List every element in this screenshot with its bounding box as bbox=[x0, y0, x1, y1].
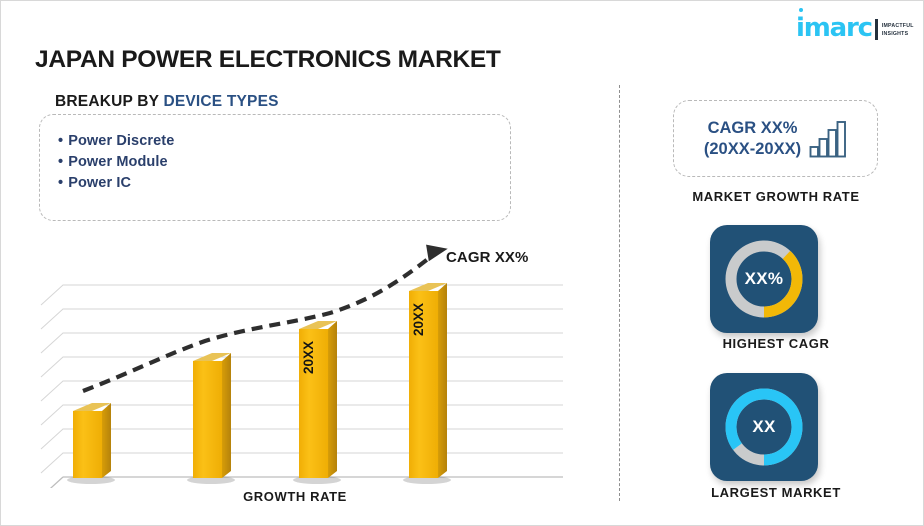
bar-1 bbox=[67, 403, 115, 484]
bar-2 bbox=[187, 353, 235, 484]
bullet-icon: • bbox=[58, 175, 63, 191]
largest-market-card: XX bbox=[710, 373, 818, 481]
breakup-subtitle: BREAKUP BY DEVICE TYPES bbox=[55, 93, 279, 111]
chart-axis-left bbox=[41, 477, 63, 488]
logo-wordmark: imarc bbox=[796, 15, 872, 41]
page-title: JAPAN POWER ELECTRONICS MARKET bbox=[35, 46, 501, 74]
list-item: •Power Discrete bbox=[58, 131, 510, 152]
highest-cagr-card: XX% bbox=[710, 225, 818, 333]
infographic-page: imarc IMPACTFUL INSIGHTS JAPAN POWER ELE… bbox=[0, 0, 924, 526]
largest-market-value: XX bbox=[710, 373, 818, 481]
highest-cagr-caption: HIGHEST CAGR bbox=[636, 336, 916, 351]
trendline bbox=[83, 245, 448, 391]
list-item-label: Power IC bbox=[68, 175, 131, 191]
bullet-icon: • bbox=[58, 133, 63, 149]
market-growth-rate-caption: MARKET GROWTH RATE bbox=[636, 189, 916, 204]
bar-chart-icon bbox=[809, 120, 847, 158]
logo-dot-icon bbox=[799, 8, 803, 12]
highest-cagr-value: XX% bbox=[710, 225, 818, 333]
breakup-highlight: DEVICE TYPES bbox=[163, 93, 278, 110]
device-types-box: •Power Discrete •Power Module •Power IC bbox=[39, 114, 511, 221]
list-item-label: Power Module bbox=[68, 154, 168, 170]
bar-4: 20XX bbox=[403, 283, 451, 484]
bullet-icon: • bbox=[58, 154, 63, 170]
market-growth-rate-card: CAGR XX% (20XX-20XX) bbox=[673, 100, 878, 177]
logo-tagline-line2: INSIGHTS bbox=[882, 30, 914, 38]
bar-4-label: 20XX bbox=[411, 303, 426, 336]
logo-tagline-line1: IMPACTFUL bbox=[882, 22, 914, 30]
cagr-line1: CAGR XX% bbox=[704, 118, 801, 139]
bar-3: 20XX bbox=[293, 321, 341, 484]
breakup-prefix: BREAKUP BY bbox=[55, 93, 163, 110]
trendline-label: CAGR XX% bbox=[446, 249, 528, 266]
imarc-logo: imarc IMPACTFUL INSIGHTS bbox=[796, 15, 914, 41]
list-item-label: Power Discrete bbox=[68, 133, 174, 149]
logo-word-text: imarc bbox=[796, 13, 872, 43]
cagr-text: CAGR XX% (20XX-20XX) bbox=[704, 118, 801, 160]
list-item: •Power IC bbox=[58, 173, 510, 194]
logo-divider-bar bbox=[875, 19, 878, 40]
logo-tagline: IMPACTFUL INSIGHTS bbox=[882, 22, 914, 41]
growth-rate-bar-chart: 20XX 20XX CAGR XX% GROWTH RATE bbox=[35, 233, 595, 523]
chart-svg: 20XX 20XX bbox=[35, 233, 595, 488]
largest-market-caption: LARGEST MARKET bbox=[636, 485, 916, 500]
panel-divider bbox=[619, 85, 620, 501]
bar-3-label: 20XX bbox=[301, 341, 316, 374]
chart-xlabel: GROWTH RATE bbox=[35, 489, 555, 504]
list-item: •Power Module bbox=[58, 152, 510, 173]
cagr-line2: (20XX-20XX) bbox=[704, 139, 801, 160]
